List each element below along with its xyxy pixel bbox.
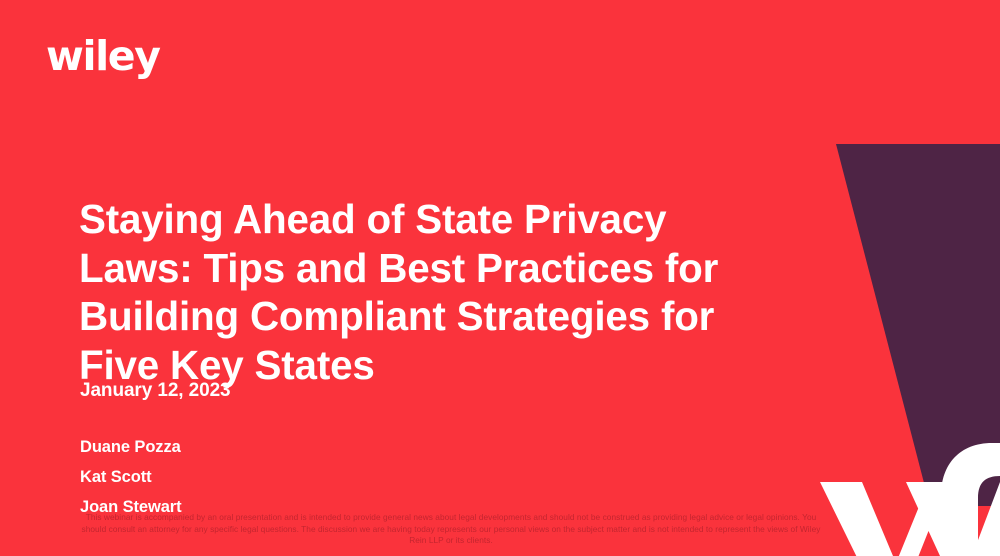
legal-disclaimer: This webinar is accompanied by an oral p… [78,512,824,547]
speaker-name: Kat Scott [80,462,500,492]
presentation-title-slide: wiley Staying Ahead of State Privacy Law… [0,0,1000,556]
purple-angle-shape [836,144,1000,506]
wiley-logo-wordmark: wiley [46,36,160,77]
page-title: Staying Ahead of State Privacy Laws: Tip… [79,195,813,389]
wiley-watermark-icon [820,443,1000,556]
speaker-list: Duane Pozza Kat Scott Joan Stewart [80,432,500,522]
speaker-name: Duane Pozza [80,432,500,462]
event-date: January 12, 2023 [80,381,231,400]
